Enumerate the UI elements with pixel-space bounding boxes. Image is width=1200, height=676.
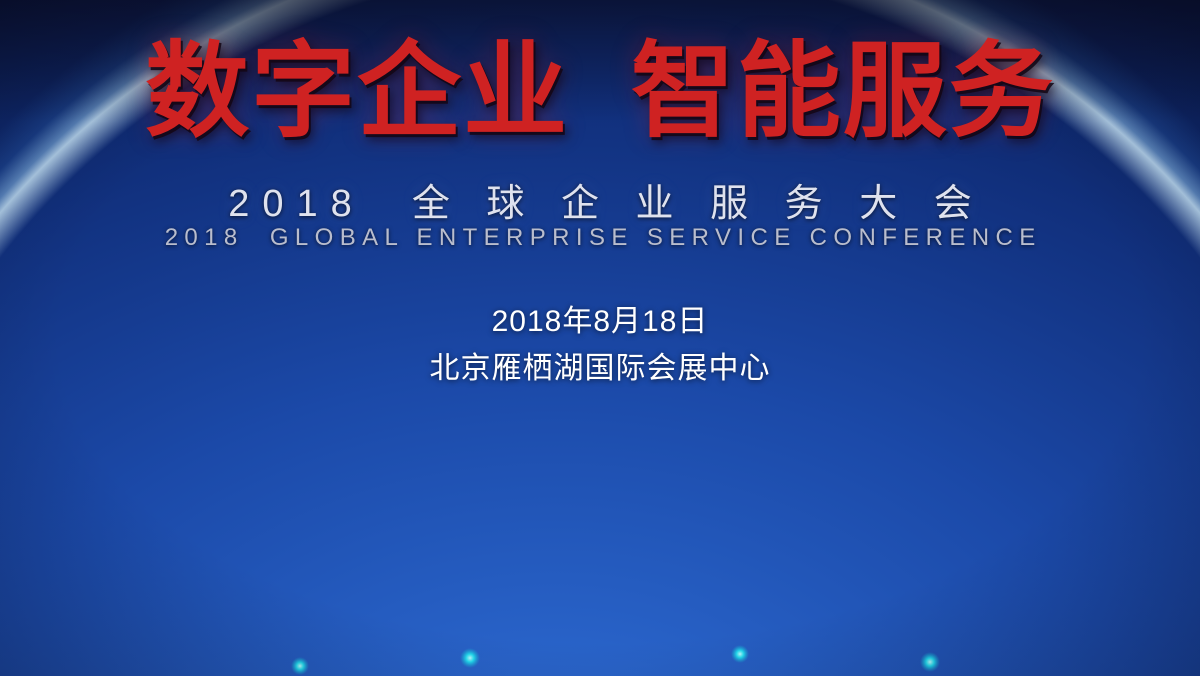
poster-content: 数字企业 智能服务 2018 全 球 企 业 服 务 大 会 2018 GLOB… <box>0 0 1200 676</box>
poster-date: 2018年8月18日 <box>0 298 1200 345</box>
poster-meta: 2018年8月18日 北京雁栖湖国际会展中心 <box>0 298 1200 392</box>
poster-subhead-cn: 2018 全 球 企 业 服 务 大 会 <box>0 172 1200 227</box>
poster-subhead-en: 2018 GLOBAL ENTERPRISE SERVICE CONFERENC… <box>0 224 1200 252</box>
poster-headline: 数字企业 智能服务 <box>0 34 1200 150</box>
poster-venue: 北京雁栖湖国际会展中心 <box>0 345 1200 392</box>
conference-poster: 数字企业 智能服务 2018 全 球 企 业 服 务 大 会 2018 GLOB… <box>0 0 1200 676</box>
